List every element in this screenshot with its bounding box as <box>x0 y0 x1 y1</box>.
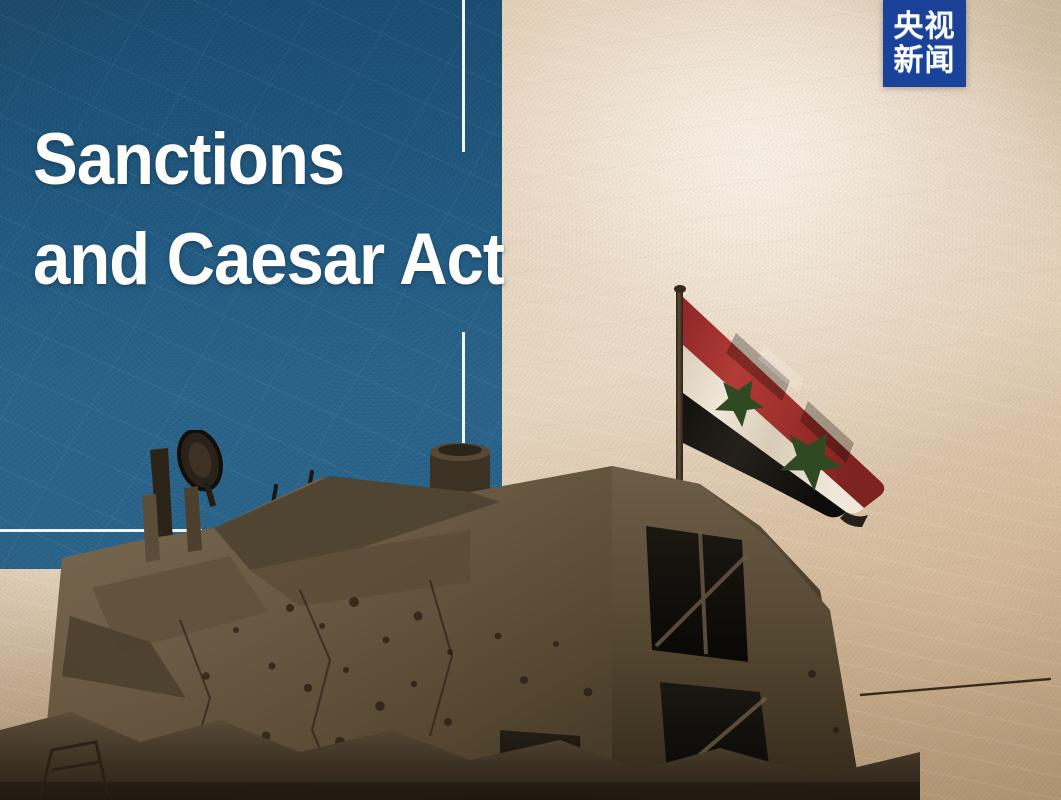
logo-line-1: 央视 <box>894 10 956 44</box>
antenna-wire-icon <box>860 676 1056 698</box>
destroyed-building <box>0 430 920 800</box>
page-title: Sanctions and Caesar Act <box>33 110 677 310</box>
logo-line-2: 新闻 <box>894 44 956 78</box>
cctv-news-logo[interactable]: 央视 新闻 <box>883 0 966 87</box>
poster-canvas: Sanctions and Caesar Act <box>0 0 1061 800</box>
